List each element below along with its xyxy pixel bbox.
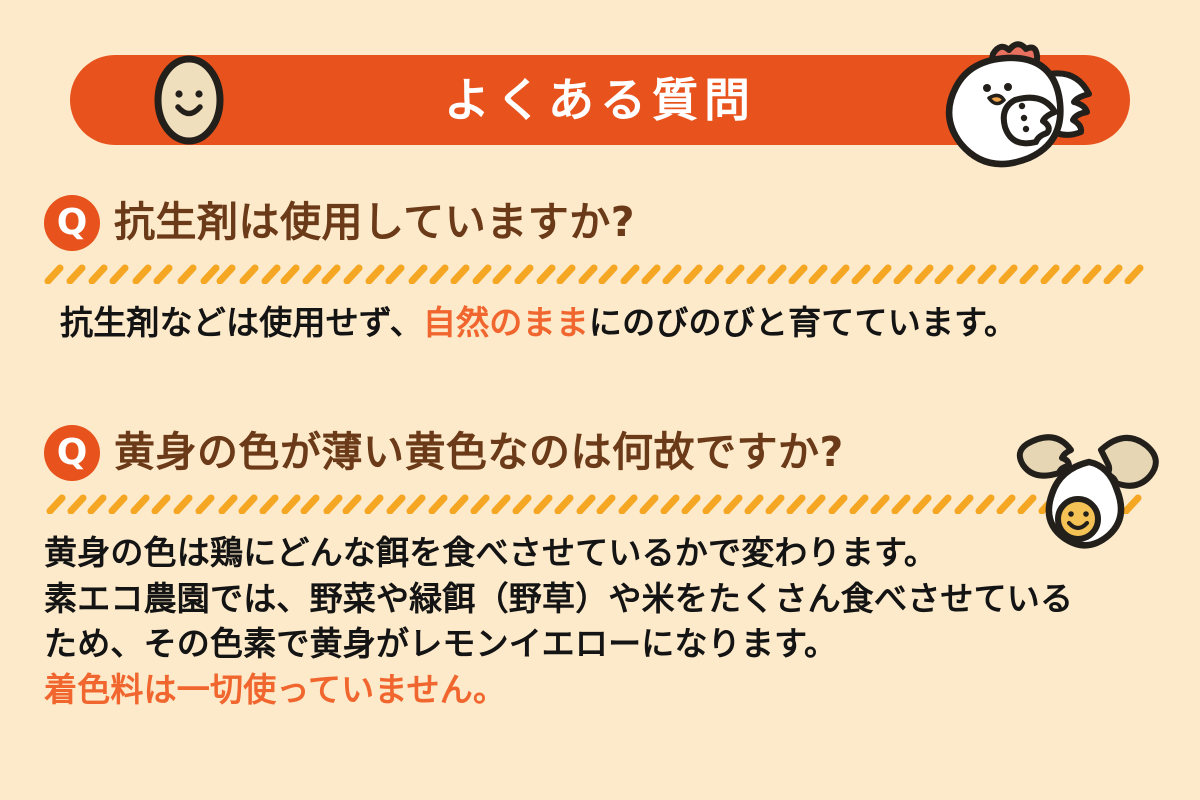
smiling-egg-icon (153, 50, 225, 145)
divider-2 (44, 494, 1152, 514)
answer-line: ため、その色素で黄身がレモンイエローになります。 (44, 621, 1156, 667)
answer-text-1: 抗生剤などは使用せず、自然のままにのびのびと育てています。 (44, 300, 1156, 346)
faq-page: よくある質問 (0, 0, 1200, 800)
question-text-1: 抗生剤は使用していますか? (114, 200, 635, 245)
answer-line: 抗生剤などは使用せず、自然のままにのびのびと育てています。 (60, 300, 1156, 346)
faq-item-2: Q 黄身の色が薄い黄色なのは何故ですか? (44, 422, 1156, 712)
answer-segment-highlight: 自然のまま (423, 303, 589, 342)
cracked-egg-icon (1005, 418, 1175, 553)
chicken-icon (945, 28, 1105, 168)
answer-line: 黄身の色は鶏にどんな餌を食べさせているかで変わります。 (44, 530, 1156, 576)
answer-line-highlight: 着色料は一切使っていません。 (44, 667, 1156, 713)
divider-1 (44, 264, 1152, 284)
answer-segment: にのびのびと育てています。 (589, 303, 1017, 342)
question-badge-icon: Q (44, 195, 100, 251)
answer-line: 素エコ農園では、野菜や緑餌（野草）や米をたくさん食べさせている (44, 576, 1156, 622)
question-text-2: 黄身の色が薄い黄色なのは何故ですか? (114, 430, 844, 475)
question-row-2: Q 黄身の色が薄い黄色なのは何故ですか? (44, 422, 1156, 484)
answer-segment: 抗生剤などは使用せず、 (60, 303, 423, 342)
answer-text-2: 黄身の色は鶏にどんな餌を食べさせているかで変わります。 素エコ農園では、野菜や緑… (44, 530, 1156, 712)
question-row-1: Q 抗生剤は使用していますか? (44, 192, 1156, 254)
question-badge-icon: Q (44, 425, 100, 481)
faq-item-1: Q 抗生剤は使用していますか? (44, 192, 1156, 346)
